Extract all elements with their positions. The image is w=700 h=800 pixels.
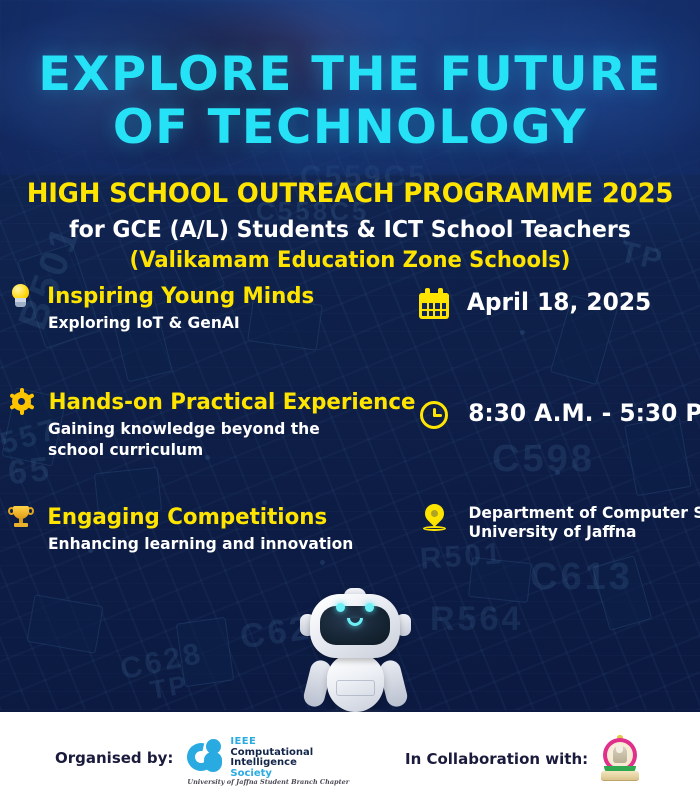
event-details: April 18, 2025 8:30 A.M. - 5:30 P.M. Dep… xyxy=(418,288,700,541)
feature-description: Gaining knowledge beyond the school curr… xyxy=(48,418,368,460)
time-value: 8:30 A.M. - 5:30 P.M. xyxy=(468,399,700,427)
clock-icon xyxy=(418,399,450,431)
location-pin-icon xyxy=(418,503,450,535)
university-of-jaffna-crest-icon xyxy=(600,736,640,782)
feature-description: Exploring IoT & GenAI xyxy=(48,312,368,333)
ieee-cis-mark-icon xyxy=(187,736,225,774)
lightbulb-icon xyxy=(8,283,34,309)
page-title: EXPLORE THE FUTURE OF TECHNOLOGY xyxy=(0,48,700,154)
feature-item: Hands-on Practical Experience Gaining kn… xyxy=(8,389,408,460)
headline-line-1: EXPLORE THE FUTURE xyxy=(38,47,662,102)
detail-date: April 18, 2025 xyxy=(418,288,700,320)
venue-line-2: University of Jaffna xyxy=(469,522,700,541)
ieee-logo-line-1: IEEE xyxy=(230,737,313,748)
subtitle-block: HIGH SCHOOL OUTREACH PROGRAMME 2025 for … xyxy=(0,178,700,273)
calendar-icon xyxy=(418,288,450,320)
ieee-cis-logo: IEEE Computational Intelligence Society … xyxy=(187,736,313,779)
event-poster: B501 C598 C613 C627 C628 R564 R501 65 C5… xyxy=(0,0,700,800)
education-zone: (Valikamam Education Zone Schools) xyxy=(14,248,686,273)
date-value: April 18, 2025 xyxy=(467,288,651,316)
collaboration-label: In Collaboration with: xyxy=(405,750,588,768)
feature-title: Hands-on Practical Experience xyxy=(49,390,416,415)
organiser-section: Organised by: IEEE Computational Intelli… xyxy=(55,736,313,779)
feature-list: Inspiring Young Minds Exploring IoT & Ge… xyxy=(8,283,408,576)
detail-time: 8:30 A.M. - 5:30 P.M. xyxy=(418,399,700,431)
feature-title: Engaging Competitions xyxy=(47,505,327,530)
gear-icon xyxy=(8,389,34,415)
feature-description: Enhancing learning and innovation xyxy=(48,533,368,554)
ieee-chapter-tagline: University of Jaffna Student Branch Chap… xyxy=(187,778,337,786)
detail-venue: Department of Computer Science Universit… xyxy=(418,503,700,541)
feature-item: Inspiring Young Minds Exploring IoT & Ge… xyxy=(8,283,408,333)
robot-mascot xyxy=(296,588,414,714)
target-audience: for GCE (A/L) Students & ICT School Teac… xyxy=(14,217,686,243)
ieee-logo-line-3: Intelligence xyxy=(230,758,313,769)
trophy-icon xyxy=(8,504,34,530)
feature-item: Engaging Competitions Enhancing learning… xyxy=(8,504,408,554)
feature-title: Inspiring Young Minds xyxy=(47,284,314,309)
headline-line-2: OF TECHNOLOGY xyxy=(0,101,700,154)
venue-line-1: Department of Computer Science xyxy=(469,503,700,522)
collaborator-section: In Collaboration with: xyxy=(405,736,640,782)
organised-by-label: Organised by: xyxy=(55,749,173,767)
footer-bar: Organised by: IEEE Computational Intelli… xyxy=(0,712,700,800)
programme-title: HIGH SCHOOL OUTREACH PROGRAMME 2025 xyxy=(14,178,686,209)
